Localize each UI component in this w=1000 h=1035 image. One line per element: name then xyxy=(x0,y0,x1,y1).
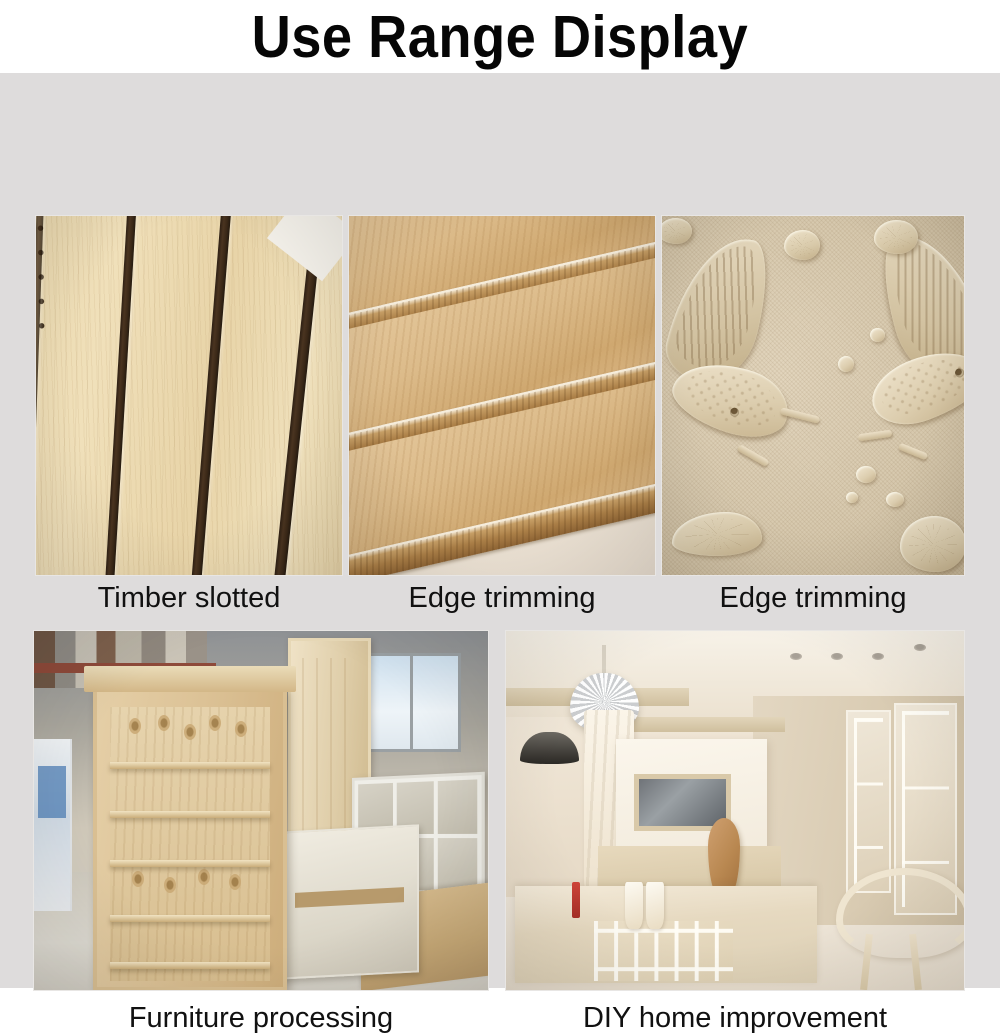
chair-backrest xyxy=(836,868,965,958)
lotus-leaf xyxy=(900,516,965,572)
header-band: Use Range Display xyxy=(0,0,1000,73)
wood-knot xyxy=(129,718,141,734)
caption-timber-slotted: Timber slotted xyxy=(35,581,343,615)
curved-chair xyxy=(836,868,960,990)
lotus-leaf xyxy=(874,220,918,254)
bookshelf-shelf xyxy=(110,860,270,867)
bookshelf-shelf xyxy=(110,811,270,818)
workshop-left-cabinet xyxy=(34,739,72,911)
caption-edge-trimming-boards: Edge trimming xyxy=(348,581,656,615)
wood-knot xyxy=(164,877,176,893)
gallery-image-furniture-processing[interactable] xyxy=(33,630,489,991)
gallery-image-timber-slotted[interactable] xyxy=(35,215,343,576)
use-range-display-page: Use Range Display Timber slotted xyxy=(0,0,1000,1000)
counter-fret-panel xyxy=(594,921,733,981)
bubble xyxy=(846,492,858,503)
bubble xyxy=(838,356,854,372)
bubble xyxy=(856,466,876,483)
page-title: Use Range Display xyxy=(252,6,749,68)
board-stack xyxy=(349,216,655,575)
bookshelf-shelf xyxy=(110,962,270,969)
wood-knot xyxy=(132,871,144,887)
ceiling-spotlight xyxy=(872,653,884,660)
lattice-screen xyxy=(846,710,891,894)
bubble xyxy=(870,328,885,342)
wood-knot xyxy=(198,869,210,885)
gallery-image-diy-home-improvement[interactable] xyxy=(505,630,965,991)
bubble xyxy=(886,492,904,507)
red-bottle xyxy=(572,882,579,918)
decor-cup xyxy=(625,882,643,929)
workbench xyxy=(279,824,419,979)
workshop-window xyxy=(359,653,460,752)
ceiling-spotlight xyxy=(790,653,802,660)
cubby-cell xyxy=(438,779,478,834)
decor-cup xyxy=(646,882,664,929)
gallery-image-edge-trimming-relief[interactable] xyxy=(661,215,965,576)
bookshelf-shelf xyxy=(110,915,270,922)
caption-edge-trimming-relief: Edge trimming xyxy=(661,581,965,615)
wood-knot xyxy=(209,715,221,731)
wood-knot xyxy=(158,715,170,731)
wood-knot xyxy=(184,724,196,740)
gallery-board: Timber slotted Edge trimming xyxy=(0,73,1000,988)
lotus-leaf xyxy=(784,230,820,260)
bookshelf-back-panel xyxy=(110,707,270,981)
wood-knot xyxy=(229,874,241,890)
bookshelf-top-rail xyxy=(84,666,296,692)
lotus-leaf xyxy=(661,218,692,244)
caption-diy-home-improvement: DIY home improvement xyxy=(505,1001,965,1035)
ceiling-spotlight xyxy=(914,644,926,651)
kitchen-counter xyxy=(515,886,817,983)
bookshelf-shelf xyxy=(110,762,270,769)
caption-furniture-processing: Furniture processing xyxy=(33,1001,489,1035)
gallery-image-edge-trimming-boards[interactable] xyxy=(348,215,656,576)
wood-knot xyxy=(235,721,247,737)
ceiling-spotlight xyxy=(831,653,843,660)
pine-bookshelf xyxy=(93,688,287,990)
